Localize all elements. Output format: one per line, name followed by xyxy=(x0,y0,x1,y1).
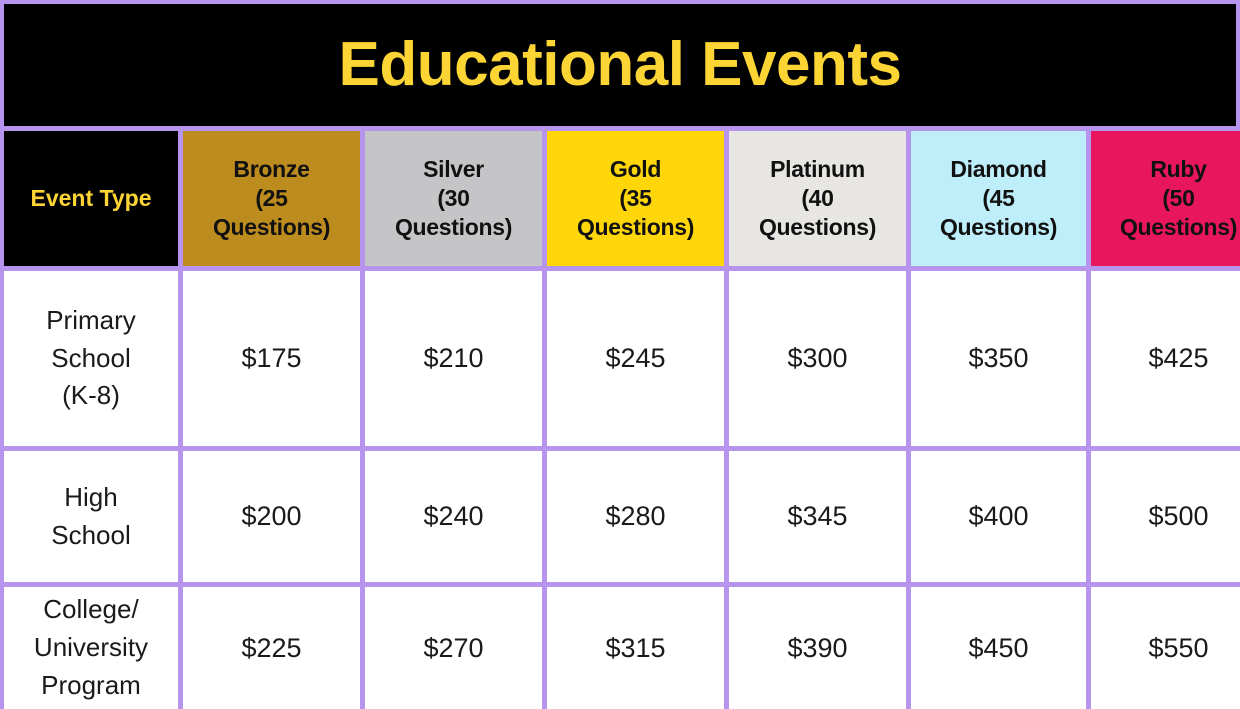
price-cell: $210 xyxy=(365,271,542,446)
tier-questions-tail: Questions) xyxy=(577,213,694,242)
price-cell: $280 xyxy=(547,451,724,582)
tier-questions-tail: Questions) xyxy=(940,213,1057,242)
price-cell: $200 xyxy=(183,451,360,582)
tier-questions: (50 xyxy=(1120,184,1237,213)
row-label-line: School xyxy=(51,517,131,555)
row-label-line: College/ xyxy=(34,591,148,629)
pricing-table-root: Educational Events Event Type Bronze (25… xyxy=(0,0,1240,709)
header-cell-gold[interactable]: Gold (35 Questions) xyxy=(547,131,724,266)
row-label-line: Program xyxy=(34,667,148,705)
tier-questions-tail: Questions) xyxy=(213,213,330,242)
page-title: Educational Events xyxy=(339,34,902,96)
row-label-college-university: College/ University Program xyxy=(4,587,178,709)
tier-name: Silver xyxy=(395,155,512,184)
price-cell: $175 xyxy=(183,271,360,446)
price-cell: $450 xyxy=(911,587,1086,709)
price-cell: $315 xyxy=(547,587,724,709)
price-cell: $345 xyxy=(729,451,906,582)
header-cell-silver[interactable]: Silver (30 Questions) xyxy=(365,131,542,266)
tier-name: Diamond xyxy=(940,155,1057,184)
header-cell-platinum[interactable]: Platinum (40 Questions) xyxy=(729,131,906,266)
tier-name: Platinum xyxy=(759,155,876,184)
tier-questions: (45 xyxy=(940,184,1057,213)
tier-name: Bronze xyxy=(213,155,330,184)
row-label-line: Primary xyxy=(46,302,136,340)
tier-questions-tail: Questions) xyxy=(759,213,876,242)
price-cell: $225 xyxy=(183,587,360,709)
header-cell-event-type: Event Type xyxy=(4,131,178,266)
row-label-line: High xyxy=(51,479,131,517)
pricing-grid: Event Type Bronze (25 Questions) Silver … xyxy=(4,131,1236,709)
price-cell: $390 xyxy=(729,587,906,709)
row-label-primary-school: Primary School (K-8) xyxy=(4,271,178,446)
corner-header-line1: Event xyxy=(30,185,93,211)
tier-questions-tail: Questions) xyxy=(395,213,512,242)
tier-questions: (40 xyxy=(759,184,876,213)
tier-questions: (25 xyxy=(213,184,330,213)
price-cell: $400 xyxy=(911,451,1086,582)
row-label-line: University xyxy=(34,629,148,667)
header-cell-bronze[interactable]: Bronze (25 Questions) xyxy=(183,131,360,266)
header-cell-ruby[interactable]: Ruby (50 Questions) xyxy=(1091,131,1240,266)
corner-header-line2: Type xyxy=(100,185,152,211)
row-label-high-school: High School xyxy=(4,451,178,582)
tier-questions: (30 xyxy=(395,184,512,213)
row-label-line: (K-8) xyxy=(46,377,136,415)
price-cell: $270 xyxy=(365,587,542,709)
tier-name: Gold xyxy=(577,155,694,184)
row-label-line: School xyxy=(46,340,136,378)
price-cell: $240 xyxy=(365,451,542,582)
price-cell: $500 xyxy=(1091,451,1240,582)
tier-name: Ruby xyxy=(1120,155,1237,184)
price-cell: $550 xyxy=(1091,587,1240,709)
tier-questions-tail: Questions) xyxy=(1120,213,1237,242)
price-cell: $300 xyxy=(729,271,906,446)
header-cell-diamond[interactable]: Diamond (45 Questions) xyxy=(911,131,1086,266)
tier-questions: (35 xyxy=(577,184,694,213)
title-banner: Educational Events xyxy=(4,4,1236,126)
price-cell: $425 xyxy=(1091,271,1240,446)
price-cell: $350 xyxy=(911,271,1086,446)
price-cell: $245 xyxy=(547,271,724,446)
